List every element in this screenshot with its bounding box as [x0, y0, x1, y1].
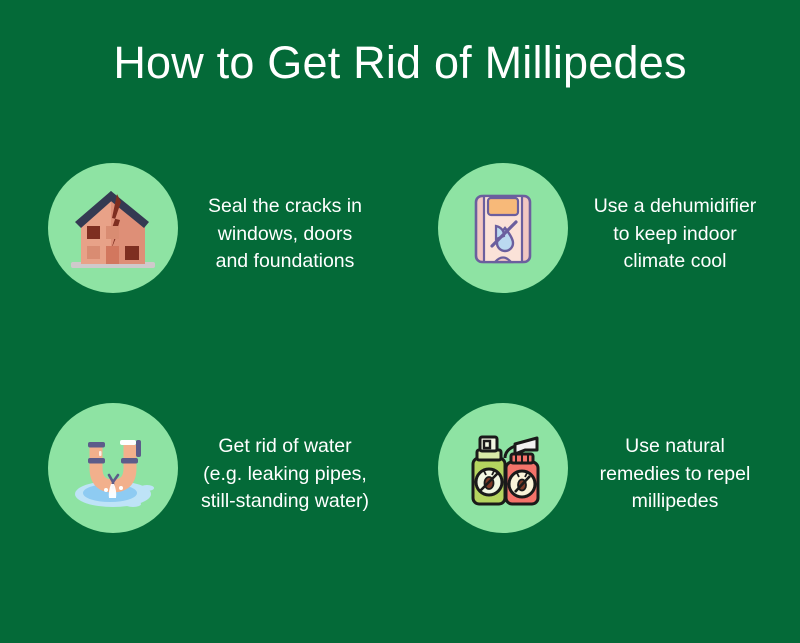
icon-circle-1 — [48, 163, 178, 293]
icon-circle-2 — [438, 163, 568, 293]
tip-item-dehumidifier: Use a dehumidifier to keep indoor climat… — [390, 163, 780, 403]
tips-row-2: Get rid of water (e.g. leaking pipes, st… — [0, 403, 800, 643]
tip-line: Seal the cracks in — [184, 193, 386, 221]
leaking-pipe-icon — [63, 418, 163, 518]
dehumidifier-icon — [453, 178, 553, 278]
icon-circle-4 — [438, 403, 568, 533]
tip-line: remedies to repel — [574, 461, 776, 489]
tips-row-1: Seal the cracks in windows, doors and fo… — [0, 163, 800, 403]
icon-circle-3 — [48, 403, 178, 533]
tip-line: (e.g. leaking pipes, — [184, 461, 386, 489]
page-title: How to Get Rid of Millipedes — [0, 38, 800, 88]
tip-line: windows, doors — [184, 221, 386, 249]
tip-text-4: Use natural remedies to repel millipedes — [568, 403, 780, 516]
tip-line: and foundations — [184, 248, 386, 276]
tip-item-remove-water: Get rid of water (e.g. leaking pipes, st… — [0, 403, 390, 643]
tip-line: millipedes — [574, 488, 776, 516]
cracked-house-icon — [63, 178, 163, 278]
repellent-bottles-icon — [453, 418, 553, 518]
tips-grid: Seal the cracks in windows, doors and fo… — [0, 163, 800, 643]
tip-line: Use natural — [574, 433, 776, 461]
infographic-poster: How to Get Rid of Millipedes — [0, 0, 800, 600]
tip-item-natural-remedies: Use natural remedies to repel millipedes — [390, 403, 780, 643]
tip-line: Use a dehumidifier — [574, 193, 776, 221]
tip-text-2: Use a dehumidifier to keep indoor climat… — [568, 163, 780, 276]
tip-text-1: Seal the cracks in windows, doors and fo… — [178, 163, 390, 276]
tip-item-seal-cracks: Seal the cracks in windows, doors and fo… — [0, 163, 390, 403]
tip-line: Get rid of water — [184, 433, 386, 461]
tip-line: climate cool — [574, 248, 776, 276]
tip-line: still-standing water) — [184, 488, 386, 516]
tip-text-3: Get rid of water (e.g. leaking pipes, st… — [178, 403, 390, 516]
tip-line: to keep indoor — [574, 221, 776, 249]
